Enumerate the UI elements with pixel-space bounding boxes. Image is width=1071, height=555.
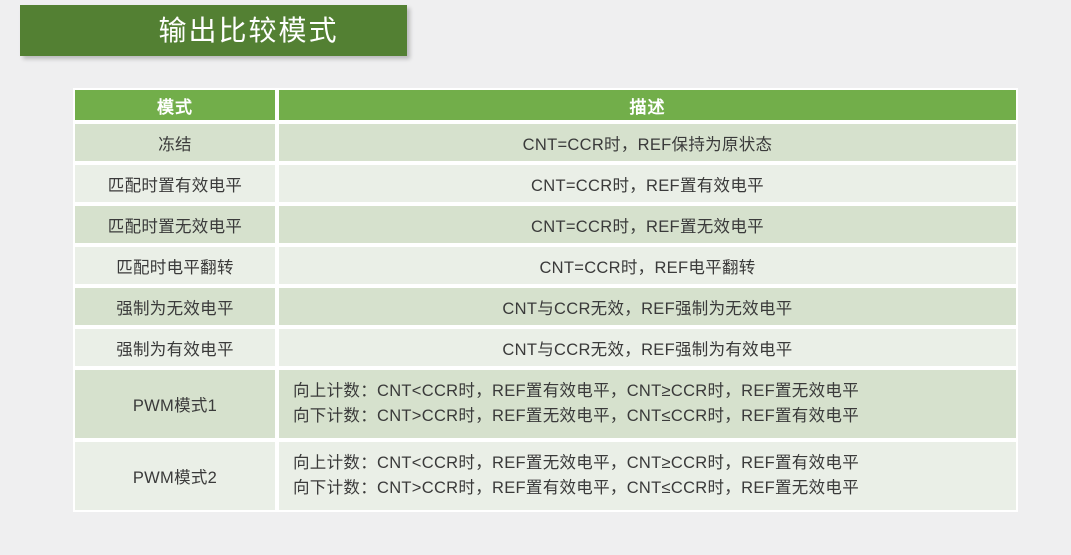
description-lines: 向上计数：CNT<CCR时，REF置有效电平，CNT≥CCR时，REF置无效电平… [279,381,1016,426]
cell-description: CNT=CCR时，REF置有效电平 [277,163,1018,204]
cell-mode: PWM模式2 [73,440,277,512]
cell-description: 向上计数：CNT<CCR时，REF置无效电平，CNT≥CCR时，REF置有效电平… [277,440,1018,512]
cell-description: CNT=CCR时，REF电平翻转 [277,245,1018,286]
cell-description: CNT=CCR时，REF保持为原状态 [277,122,1018,163]
title-banner: 输出比较模式 [20,5,407,56]
description-line: 向下计数：CNT>CCR时，REF置无效电平，CNT≤CCR时，REF置有效电平 [293,406,859,427]
description-line: 向上计数：CNT<CCR时，REF置无效电平，CNT≥CCR时，REF置有效电平 [293,453,859,474]
table-row: 匹配时电平翻转CNT=CCR时，REF电平翻转 [73,245,1018,286]
table-row: PWM模式1向上计数：CNT<CCR时，REF置有效电平，CNT≥CCR时，RE… [73,368,1018,440]
cell-description: 向上计数：CNT<CCR时，REF置有效电平，CNT≥CCR时，REF置无效电平… [277,368,1018,440]
cell-mode: PWM模式1 [73,368,277,440]
description-line: 向下计数：CNT>CCR时，REF置有效电平，CNT≤CCR时，REF置无效电平 [293,478,859,499]
cell-mode: 强制为无效电平 [73,286,277,327]
cell-description: CNT=CCR时，REF置无效电平 [277,204,1018,245]
description-lines: 向上计数：CNT<CCR时，REF置无效电平，CNT≥CCR时，REF置有效电平… [279,453,1016,498]
table-row: 强制为有效电平CNT与CCR无效，REF强制为有效电平 [73,327,1018,368]
table-row: 强制为无效电平CNT与CCR无效，REF强制为无效电平 [73,286,1018,327]
page-title: 输出比较模式 [158,17,338,45]
table-header: 模式 描述 [73,88,1018,122]
description-line: 向上计数：CNT<CCR时，REF置有效电平，CNT≥CCR时，REF置无效电平 [293,381,859,402]
cell-mode: 冻结 [73,122,277,163]
column-header-description: 描述 [277,88,1018,122]
cell-mode: 匹配时置无效电平 [73,204,277,245]
table-body: 冻结CNT=CCR时，REF保持为原状态匹配时置有效电平CNT=CCR时，REF… [73,122,1018,512]
table-row: 匹配时置有效电平CNT=CCR时，REF置有效电平 [73,163,1018,204]
cell-description: CNT与CCR无效，REF强制为有效电平 [277,327,1018,368]
cell-description: CNT与CCR无效，REF强制为无效电平 [277,286,1018,327]
column-header-mode: 模式 [73,88,277,122]
cell-mode: 匹配时置有效电平 [73,163,277,204]
output-compare-mode-table: 模式 描述 冻结CNT=CCR时，REF保持为原状态匹配时置有效电平CNT=CC… [73,88,1018,512]
cell-mode: 匹配时电平翻转 [73,245,277,286]
cell-mode: 强制为有效电平 [73,327,277,368]
table-header-row: 模式 描述 [73,88,1018,122]
table-row: 冻结CNT=CCR时，REF保持为原状态 [73,122,1018,163]
table-row: 匹配时置无效电平CNT=CCR时，REF置无效电平 [73,204,1018,245]
table-row: PWM模式2向上计数：CNT<CCR时，REF置无效电平，CNT≥CCR时，RE… [73,440,1018,512]
